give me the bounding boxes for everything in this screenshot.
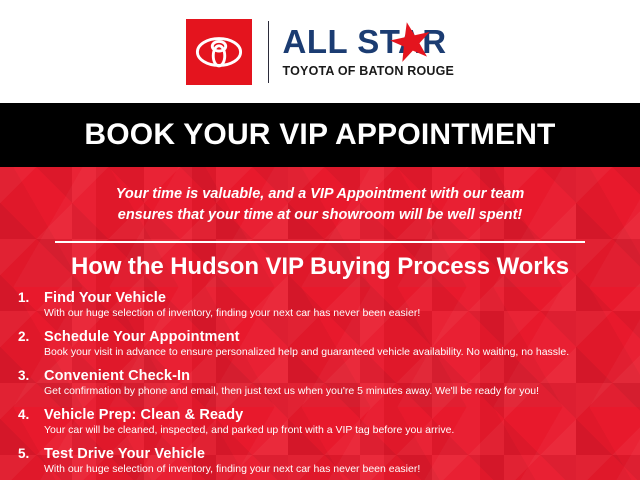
list-item: 1. Find Your Vehicle With our huge selec… <box>0 290 640 320</box>
allstar-title-row: ALL STAR <box>283 24 455 62</box>
step-title: Vehicle Prep: Clean & Ready <box>44 407 243 423</box>
step-description: With our huge selection of inventory, fi… <box>44 306 640 320</box>
step-header: 3. Convenient Check-In <box>18 368 640 384</box>
step-description: With our huge selection of inventory, fi… <box>44 462 640 476</box>
step-description: Book your visit in advance to ensure per… <box>44 345 640 359</box>
horizontal-divider <box>55 241 585 243</box>
step-header: 2. Schedule Your Appointment <box>18 329 640 345</box>
logo-divider <box>268 21 269 83</box>
step-number: 2. <box>18 329 44 344</box>
steps-list: 1. Find Your Vehicle With our huge selec… <box>0 290 640 480</box>
promo-graphic: ALL STAR TOYOTA OF BATON ROUGE BOOK YOUR… <box>0 0 640 480</box>
step-description: Your car will be cleaned, inspected, and… <box>44 423 640 437</box>
list-item: 3. Convenient Check-In Get confirmation … <box>0 368 640 398</box>
step-title: Schedule Your Appointment <box>44 329 240 345</box>
list-item: 5. Test Drive Your Vehicle With our huge… <box>0 446 640 476</box>
step-header: 4. Vehicle Prep: Clean & Ready <box>18 407 640 423</box>
banner-title: BOOK YOUR VIP APPOINTMENT <box>84 118 555 152</box>
banner-strip: BOOK YOUR VIP APPOINTMENT <box>0 103 640 167</box>
step-number: 3. <box>18 368 44 383</box>
step-number: 4. <box>18 407 44 422</box>
red-star-icon <box>390 21 432 63</box>
tagline-line-1: Your time is valuable, and a VIP Appoint… <box>0 184 640 205</box>
step-header: 1. Find Your Vehicle <box>18 290 640 306</box>
toyota-emblem-icon <box>186 19 252 85</box>
step-title: Find Your Vehicle <box>44 290 166 306</box>
list-item: 2. Schedule Your Appointment Book your v… <box>0 329 640 359</box>
step-title: Convenient Check-In <box>44 368 190 384</box>
step-number: 1. <box>18 290 44 305</box>
tagline: Your time is valuable, and a VIP Appoint… <box>0 184 640 226</box>
step-header: 5. Test Drive Your Vehicle <box>18 446 640 462</box>
panel-content: Your time is valuable, and a VIP Appoint… <box>0 167 640 480</box>
step-description: Get confirmation by phone and email, the… <box>44 384 640 398</box>
list-item: 4. Vehicle Prep: Clean & Ready Your car … <box>0 407 640 437</box>
tagline-line-2: ensures that your time at our showroom w… <box>0 205 640 226</box>
step-number: 5. <box>18 446 44 461</box>
dealer-logo: ALL STAR TOYOTA OF BATON ROUGE <box>186 19 455 85</box>
section-heading: How the Hudson VIP Buying Process Works <box>0 253 640 281</box>
content-panel: Your time is valuable, and a VIP Appoint… <box>0 167 640 480</box>
allstar-subtitle: TOYOTA OF BATON ROUGE <box>283 63 455 79</box>
step-title: Test Drive Your Vehicle <box>44 446 205 462</box>
header-logo-band: ALL STAR TOYOTA OF BATON ROUGE <box>0 0 640 103</box>
allstar-wordmark: ALL STAR TOYOTA OF BATON ROUGE <box>283 19 455 85</box>
